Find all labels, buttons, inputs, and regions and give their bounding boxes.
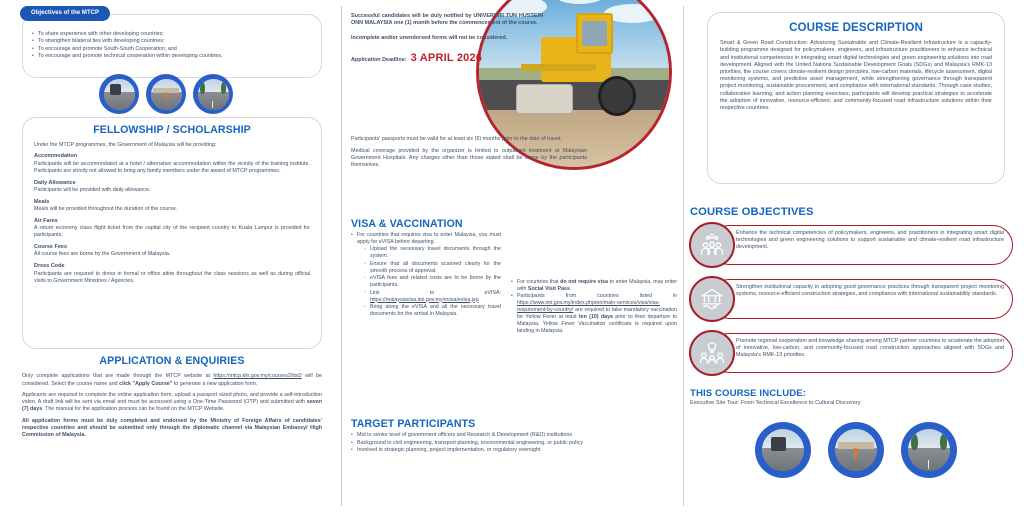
visa-sub-list: Upload the necessary travel documents th… — [364, 246, 501, 317]
site-tour-photo-2 — [828, 422, 884, 478]
visa-left-list: For countries that requires visa to ente… — [351, 232, 501, 318]
fellowship-group-accommodation: Accommodation Participants will be accom… — [34, 153, 310, 175]
objectives-card: Objectives of the MTCP To share experien… — [22, 14, 322, 78]
fellowship-group-air-fares: Air Fares A return economy class flight … — [34, 218, 310, 240]
para2-b: . The manual for the application process… — [42, 406, 224, 412]
fellowship-group-dress-code: Dress Code Participants are required to … — [34, 263, 310, 285]
group-text: A return economy class flight ticket fro… — [34, 225, 310, 239]
notice-2: Incomplete and/or unendorsed forms will … — [351, 35, 543, 42]
list-item: Background in civil engineering, transpo… — [351, 440, 677, 447]
course-description-title: COURSE DESCRIPTION — [720, 20, 992, 35]
t1: For countries that — [517, 279, 560, 285]
road-site-photo-2 — [146, 74, 186, 114]
medical-para: Medical coverage provided by the organiz… — [351, 148, 587, 169]
t5: . — [570, 286, 571, 292]
target-participants-list: Mid to senior level of government office… — [351, 432, 677, 455]
application-para-2: Applicants are required to complete the … — [22, 392, 322, 413]
fellowship-group-meals: Meals Meals will be provided throughout … — [34, 199, 310, 214]
list-item: Participants from countries listed in ht… — [511, 293, 677, 335]
group-text: Meals will be provided throughout the du… — [34, 206, 310, 213]
group-label: Daily Allowance — [34, 180, 310, 187]
deadline-value: 3 APRIL 2026 — [411, 51, 483, 66]
objective-text-pill: Promote regional cooperation and knowled… — [709, 333, 1013, 373]
left-photo-circle-row — [99, 74, 233, 114]
objectives-pill-label: Objectives of the MTCP — [20, 6, 110, 21]
group-label: Air Fares — [34, 218, 310, 225]
link-lead: Link to eVISA: — [370, 290, 501, 296]
visa-left-bullet-text: For countries that requires visa to ente… — [357, 232, 501, 245]
list-item: To encourage and promote South-South Coo… — [32, 46, 312, 53]
evisa-link[interactable]: https://malaysiavisa.imi.gov.my/evisa/ev… — [370, 297, 479, 303]
list-item: To share experience with other developin… — [32, 31, 312, 38]
target-participants-title: TARGET PARTICIPANTS — [351, 418, 475, 432]
right-photo-circle-row — [755, 422, 957, 478]
deadline-label: Application Deadline: — [351, 57, 407, 64]
t6: Participants from countries listed in — [517, 293, 677, 299]
passport-para: Participants' passports must be valid fo… — [351, 136, 587, 143]
application-para-3: All application forms must be duly compl… — [22, 418, 322, 439]
fellowship-group-course-fees: Course Fees All course fees are borne by… — [34, 244, 310, 259]
group-text: Participants will be provided with daily… — [34, 187, 310, 194]
list-item: Upload the necessary travel documents th… — [364, 246, 501, 260]
objectives-list: To share experience with other developin… — [32, 31, 312, 60]
course-objectives-title: COURSE OBJECTIVES — [690, 205, 814, 220]
objective-text: Enhance the technical competencies of po… — [736, 230, 1004, 251]
objective-text: Strengthen institutional capacity in ado… — [736, 284, 1004, 298]
t8: ten (10) days — [579, 314, 613, 320]
course-objective-2: Strengthen institutional capacity in ado… — [689, 276, 1019, 322]
site-tour-photo-1 — [755, 422, 811, 478]
list-item-evisa-link: Link to eVISA: https://malaysiavisa.imi.… — [364, 290, 501, 304]
list-item: Mid to senior level of government office… — [351, 432, 677, 439]
visa-column-right: For countries that do not require visa t… — [511, 232, 677, 336]
para1-c: to generate a new application form. — [172, 381, 257, 387]
site-tour-photo-3 — [901, 422, 957, 478]
group-text: Participants will be accommodated at a h… — [34, 161, 310, 175]
this-course-include-subtitle: Executive Site Tour: From Technical Exce… — [690, 400, 860, 407]
institution-handshake-icon — [689, 276, 735, 322]
mtcp-website-link[interactable]: https://mtcp.kln.gov.my/courses2/list2 — [213, 373, 301, 379]
course-description-text: Smart & Green Road Construction: Advanci… — [720, 40, 992, 112]
road-site-photo-3 — [193, 74, 233, 114]
people-gear-icon — [689, 222, 735, 268]
objective-text-pill: Enhance the technical competencies of po… — [709, 225, 1013, 265]
list-item: To strengthen bilateral ties with develo… — [32, 38, 312, 45]
application-enquiries-block: APPLICATION & ENQUIRIES Only complete ap… — [22, 355, 322, 444]
visa-columns: For countries that requires visa to ente… — [351, 232, 677, 336]
fellowship-intro: Under the MTCP programmes, the Governmen… — [34, 142, 310, 149]
notice-block: Successful candidates will be duly notif… — [351, 13, 543, 65]
passport-medical-block: Participants' passports must be valid fo… — [351, 136, 587, 174]
list-item: For countries that do not require visa t… — [511, 279, 677, 293]
application-title: APPLICATION & ENQUIRIES — [22, 355, 322, 369]
list-item: Bring along the eVISA and all the necess… — [364, 304, 501, 318]
list-item: To encourage and promote technical coope… — [32, 53, 312, 60]
fellowship-card: FELLOWSHIP / SCHOLARSHIP Under the MTCP … — [22, 117, 322, 349]
course-description-card: COURSE DESCRIPTION Smart & Green Road Co… — [707, 12, 1005, 184]
application-deadline: Application Deadline: 3 APRIL 2026 — [351, 51, 543, 66]
visa-right-list: For countries that do not require visa t… — [511, 279, 677, 335]
right-column: COURSE DESCRIPTION Smart & Green Road Co… — [683, 0, 1024, 512]
visa-column-left: For countries that requires visa to ente… — [351, 232, 501, 336]
para1-bold: click "Apply Course" — [119, 381, 172, 387]
objective-text: Promote regional cooperation and knowled… — [736, 338, 1004, 359]
para2-a: Applicants are required to complete the … — [22, 392, 322, 405]
t2: do not require visa — [560, 279, 608, 285]
road-site-photo-1 — [99, 74, 139, 114]
visa-vaccination-title: VISA & VACCINATION — [351, 218, 463, 232]
fellowship-group-daily-allowance: Daily Allowance Participants will be pro… — [34, 180, 310, 195]
course-objective-3: Promote regional cooperation and knowled… — [689, 330, 1019, 376]
brochure-page: Objectives of the MTCP To share experien… — [0, 0, 1024, 512]
list-item: Involved in strategic planning, project … — [351, 447, 677, 454]
this-course-include-title: THIS COURSE INCLUDE: — [690, 388, 806, 401]
left-column: Objectives of the MTCP To share experien… — [0, 0, 341, 512]
group-text: Participants are required to dress in fo… — [34, 271, 310, 285]
group-text: All course fees are borne by the Governm… — [34, 251, 310, 258]
list-item: eVISA fees and related costs are to be b… — [364, 275, 501, 289]
list-item: For countries that requires visa to ente… — [351, 232, 501, 318]
objective-text-pill: Strengthen institutional capacity in ado… — [709, 279, 1013, 319]
t4: Social Visit Pass — [528, 286, 570, 292]
middle-column: Successful candidates will be duly notif… — [341, 0, 683, 512]
course-objective-1: Enhance the technical competencies of po… — [689, 222, 1019, 268]
group-label: Accommodation — [34, 153, 310, 160]
people-idea-network-icon — [689, 330, 735, 376]
notice-1: Successful candidates will be duly notif… — [351, 13, 543, 27]
group-label: Dress Code — [34, 263, 310, 270]
fellowship-title: FELLOWSHIP / SCHOLARSHIP — [34, 124, 310, 138]
group-label: Course Fees — [34, 244, 310, 251]
group-label: Meals — [34, 199, 310, 206]
list-item: Ensure that all documents scanned clearl… — [364, 261, 501, 275]
para1-a: Only complete applications that are made… — [22, 373, 213, 379]
application-para-1: Only complete applications that are made… — [22, 373, 322, 387]
